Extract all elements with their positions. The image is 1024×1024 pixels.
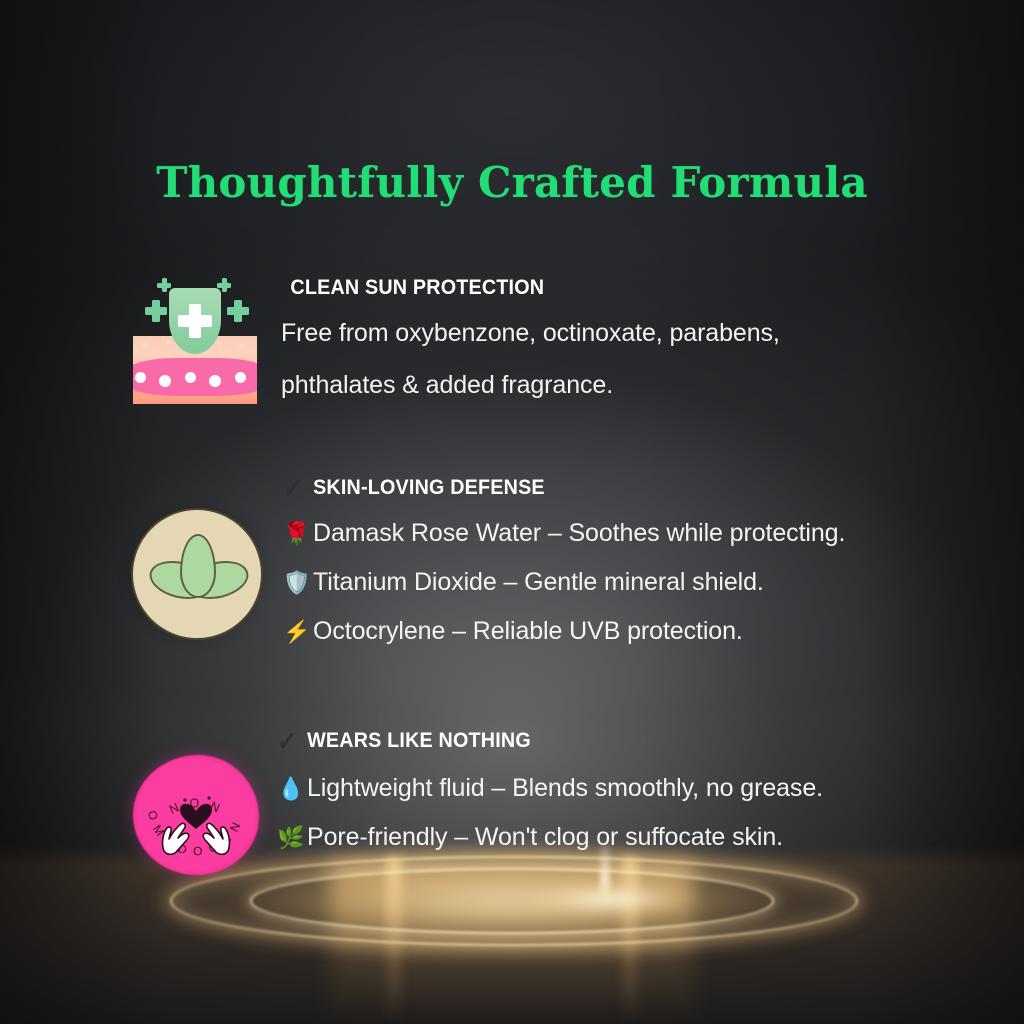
section-wears-like-nothing: N O N C O M E D O G E N I C <box>133 728 823 875</box>
herb-leaf-icon: 🌿 <box>277 825 307 851</box>
feature-text: phthalates & added fragrance. <box>281 371 613 400</box>
section-heading: CLEAN SUN PROTECTION <box>281 276 750 300</box>
lightning-icon: ⚡ <box>283 619 313 645</box>
section-heading-text: SKIN-LOVING DEFENSE <box>313 476 545 500</box>
feature-line: phthalates & added fragrance. <box>281 371 780 400</box>
section-skin-loving-defense: ✓ SKIN-LOVING DEFENSE 🌹 Damask Rose Wate… <box>131 475 845 646</box>
rose-icon: 🌹 <box>283 521 313 547</box>
feature-text: Lightweight fluid – Blends smoothly, no … <box>307 774 823 803</box>
shield-icon: 🛡️ <box>283 570 313 596</box>
section-clean-sun-protection: CLEAN SUN PROTECTION Free from oxybenzon… <box>131 274 780 406</box>
leaf-center <box>180 534 216 598</box>
section-body: CLEAN SUN PROTECTION Free from oxybenzon… <box>281 274 780 400</box>
feature-line: 💧 Lightweight fluid – Blends smoothly, n… <box>277 774 823 803</box>
feature-text: Octocrylene – Reliable UVB protection. <box>313 617 743 646</box>
shield-badge <box>169 288 221 354</box>
section-heading: ✓ WEARS LIKE NOTHING <box>277 728 790 754</box>
check-icon: ✓ <box>277 728 298 754</box>
section-heading-text: CLEAN SUN PROTECTION <box>290 276 544 300</box>
feature-text: Pore-friendly – Won't clog or suffocate … <box>307 823 783 852</box>
plus-sparkle-right <box>227 300 249 322</box>
feature-line: 🌿 Pore-friendly – Won't clog or suffocat… <box>277 823 823 852</box>
feature-line: 🌹 Damask Rose Water – Soothes while prot… <box>283 519 845 548</box>
leaf-circle-icon <box>131 508 263 640</box>
section-body: ✓ WEARS LIKE NOTHING 💧 Lightweight fluid… <box>277 728 823 852</box>
stamp-artwork: N O N C O M E D O G E N I C <box>133 755 259 875</box>
feature-text: Titanium Dioxide – Gentle mineral shield… <box>313 568 764 597</box>
feature-text: Free from oxybenzone, octinoxate, parabe… <box>281 319 780 348</box>
water-droplet-icon: 💧 <box>277 776 307 802</box>
feature-text: Damask Rose Water – Soothes while protec… <box>313 519 845 548</box>
feature-line: 🛡️ Titanium Dioxide – Gentle mineral shi… <box>283 568 845 597</box>
feature-line: Free from oxybenzone, octinoxate, parabe… <box>281 319 780 348</box>
check-icon: ✓ <box>283 475 304 501</box>
skin-shield-icon <box>131 274 259 406</box>
section-heading-text: WEARS LIKE NOTHING <box>307 729 531 753</box>
plus-sparkle-left <box>145 300 167 322</box>
section-heading: ✓ SKIN-LOVING DEFENSE <box>283 475 812 501</box>
page-title: Thoughtfully Crafted Formula <box>0 158 1024 207</box>
infographic-canvas: Thoughtfully Crafted Formula <box>0 0 1024 1024</box>
feature-line: ⚡ Octocrylene – Reliable UVB protection. <box>283 617 845 646</box>
non-comedogenic-stamp-icon: N O N C O M E D O G E N I C <box>133 755 259 875</box>
section-body: ✓ SKIN-LOVING DEFENSE 🌹 Damask Rose Wate… <box>283 475 845 646</box>
